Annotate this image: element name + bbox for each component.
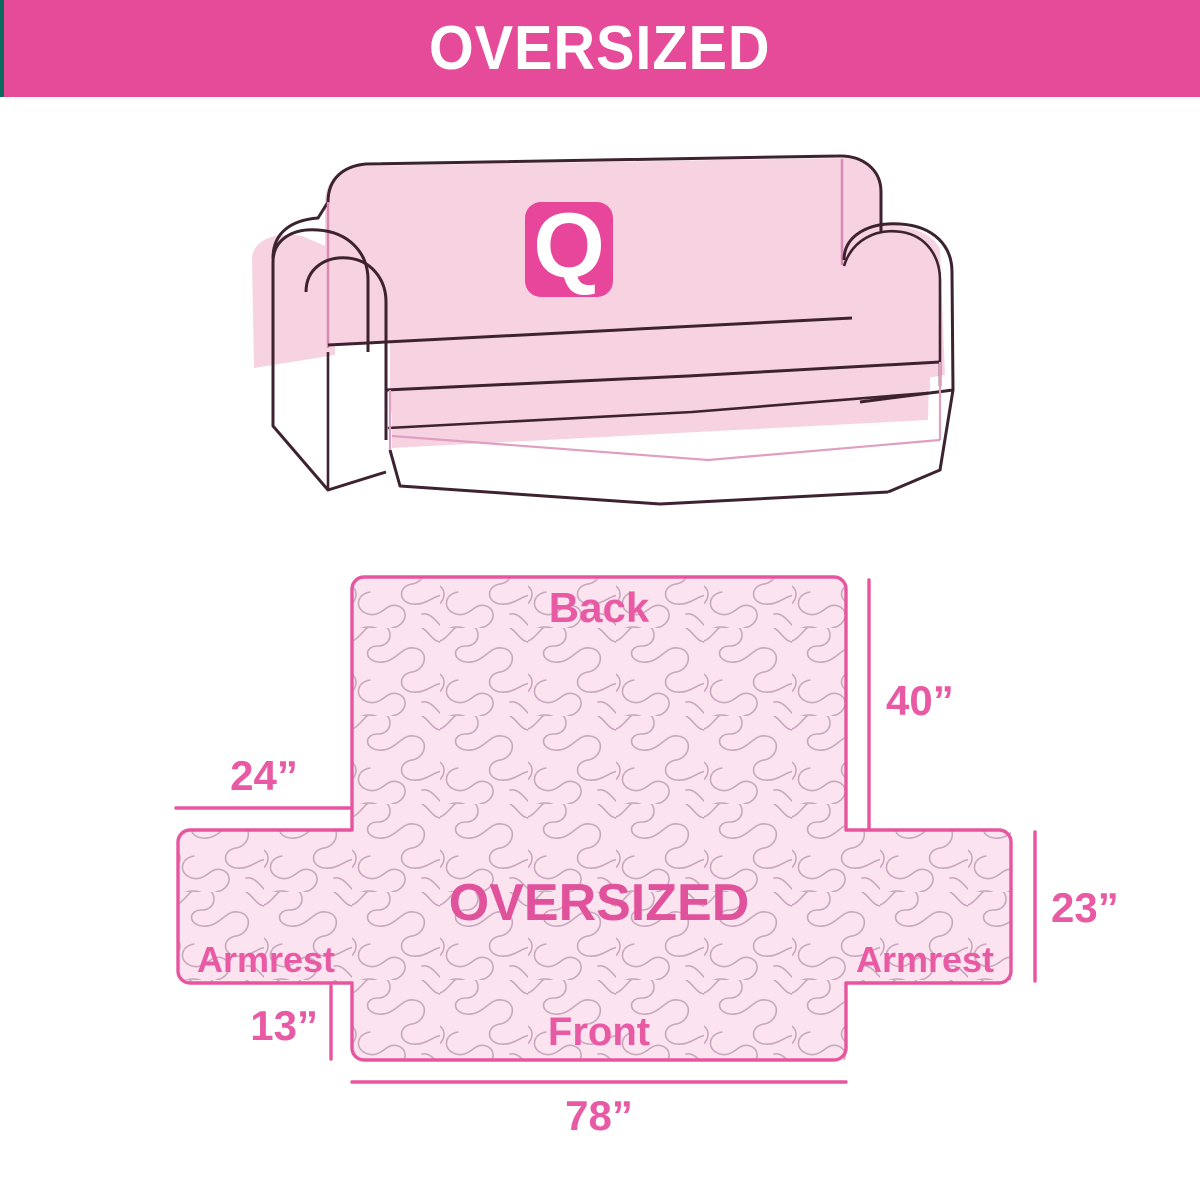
- label-back: Back: [549, 584, 650, 631]
- quilt-texture: [170, 570, 1020, 1070]
- label-front: Front: [548, 1010, 650, 1054]
- dimension-front-height: 13”: [250, 986, 331, 1059]
- dimension-value-78: 78”: [565, 1092, 633, 1139]
- label-center-size: OVERSIZED: [449, 874, 750, 932]
- header-accent-strip: [0, 0, 4, 97]
- header-banner: OVERSIZED: [0, 0, 1200, 97]
- logo-letter: Q: [533, 195, 605, 297]
- cover-panel-shape: [170, 570, 1020, 1070]
- dimension-back-height: 40”: [869, 580, 954, 828]
- dimension-value-13: 13”: [250, 1002, 318, 1049]
- brand-logo: Q: [525, 195, 613, 297]
- sofa-illustration: Q: [240, 140, 980, 530]
- sofa-drawing-group: Q: [252, 156, 953, 504]
- dimension-armrest-height: 23”: [1035, 832, 1119, 981]
- label-armrest-left: Armrest: [197, 939, 335, 980]
- pattern-size-diagram: Back OVERSIZED Armrest Armrest Front 40”…: [0, 540, 1200, 1160]
- label-armrest-right: Armrest: [856, 939, 994, 980]
- dimension-value-40: 40”: [886, 677, 954, 724]
- sofa-left-arm-fill: [252, 235, 335, 368]
- dimension-value-24: 24”: [230, 752, 298, 799]
- dimension-total-width: 78”: [352, 1082, 846, 1139]
- sofa-front-bottom: [390, 450, 888, 504]
- dimension-value-23: 23”: [1051, 884, 1119, 931]
- dimension-armrest-width: 24”: [176, 752, 350, 808]
- page-title: OVERSIZED: [429, 18, 771, 80]
